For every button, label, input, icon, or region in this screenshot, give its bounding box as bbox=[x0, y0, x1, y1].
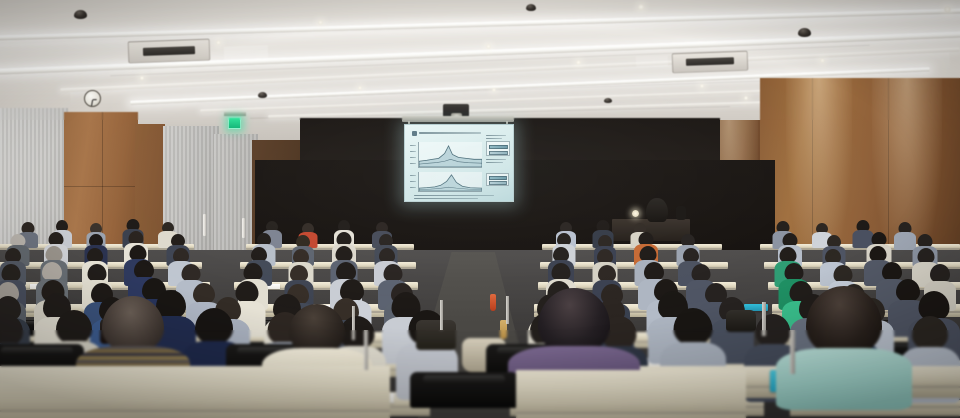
downlight-icon bbox=[820, 58, 825, 63]
clock-minute-hand bbox=[91, 99, 93, 105]
emergency-exit-sign-icon bbox=[228, 117, 241, 129]
presentation-slide bbox=[408, 128, 510, 198]
downlight-icon bbox=[744, 96, 748, 100]
downlight-icon bbox=[140, 76, 144, 80]
av-operator-person bbox=[646, 198, 668, 222]
slide-chart-upper-plot bbox=[419, 142, 482, 167]
door-handle[interactable] bbox=[242, 218, 245, 238]
slide-title-text bbox=[419, 132, 481, 134]
ceiling-light-strip bbox=[268, 101, 788, 119]
long-shared-desk bbox=[0, 366, 390, 412]
av-equipment bbox=[676, 206, 686, 220]
desk-leg bbox=[364, 330, 368, 370]
downlight-icon bbox=[576, 60, 581, 65]
av-task-lamp bbox=[632, 210, 639, 217]
exit-sign-mount bbox=[224, 112, 246, 116]
downlight-icon bbox=[486, 44, 491, 49]
slide-legend-lower bbox=[486, 173, 509, 186]
dome-speaker-icon bbox=[258, 92, 267, 98]
lecture-hall-photograph bbox=[0, 0, 960, 418]
dome-camera-icon bbox=[798, 28, 811, 37]
dome-speaker-icon bbox=[604, 98, 612, 103]
screen-mount-bar bbox=[402, 116, 514, 122]
downlight-icon bbox=[216, 40, 221, 45]
floor-bag bbox=[416, 320, 456, 350]
downlight-icon bbox=[700, 84, 704, 88]
downlight-icon bbox=[358, 86, 362, 90]
door-handle[interactable] bbox=[203, 214, 206, 236]
slide-footnote-line bbox=[414, 198, 478, 199]
ceiling-access-panel bbox=[224, 45, 268, 61]
desk-leg bbox=[440, 300, 443, 330]
desk-leg bbox=[790, 330, 795, 374]
slide-chart-upper bbox=[418, 142, 482, 168]
long-shared-desk bbox=[516, 370, 746, 414]
downlight-icon bbox=[638, 4, 644, 10]
desk-leg bbox=[762, 302, 766, 336]
slide-footnote-line bbox=[414, 195, 494, 196]
dome-speaker-icon bbox=[526, 4, 536, 11]
ac-vent-icon bbox=[672, 51, 749, 74]
wall-clock bbox=[84, 90, 101, 107]
downlight-icon bbox=[318, 20, 323, 25]
downlight-icon bbox=[944, 6, 951, 13]
floor-bag bbox=[726, 310, 756, 332]
slide-title-bullet bbox=[412, 131, 417, 136]
desk-leg bbox=[506, 296, 509, 324]
slide-legend-upper bbox=[486, 141, 510, 156]
slide-chart-lower-plot bbox=[419, 172, 482, 191]
dome-camera-icon bbox=[74, 10, 87, 19]
ceiling-access-panel bbox=[636, 55, 668, 67]
slide-chart-lower bbox=[418, 172, 482, 192]
clock-hour-hand bbox=[93, 99, 97, 101]
drink-bottle bbox=[490, 294, 496, 311]
downlight-icon bbox=[492, 88, 496, 92]
audience-member bbox=[776, 286, 912, 402]
projection-screen bbox=[404, 124, 514, 202]
ac-vent-icon bbox=[128, 39, 211, 64]
desk-leg bbox=[352, 306, 355, 340]
stacking-chair[interactable] bbox=[410, 372, 518, 408]
